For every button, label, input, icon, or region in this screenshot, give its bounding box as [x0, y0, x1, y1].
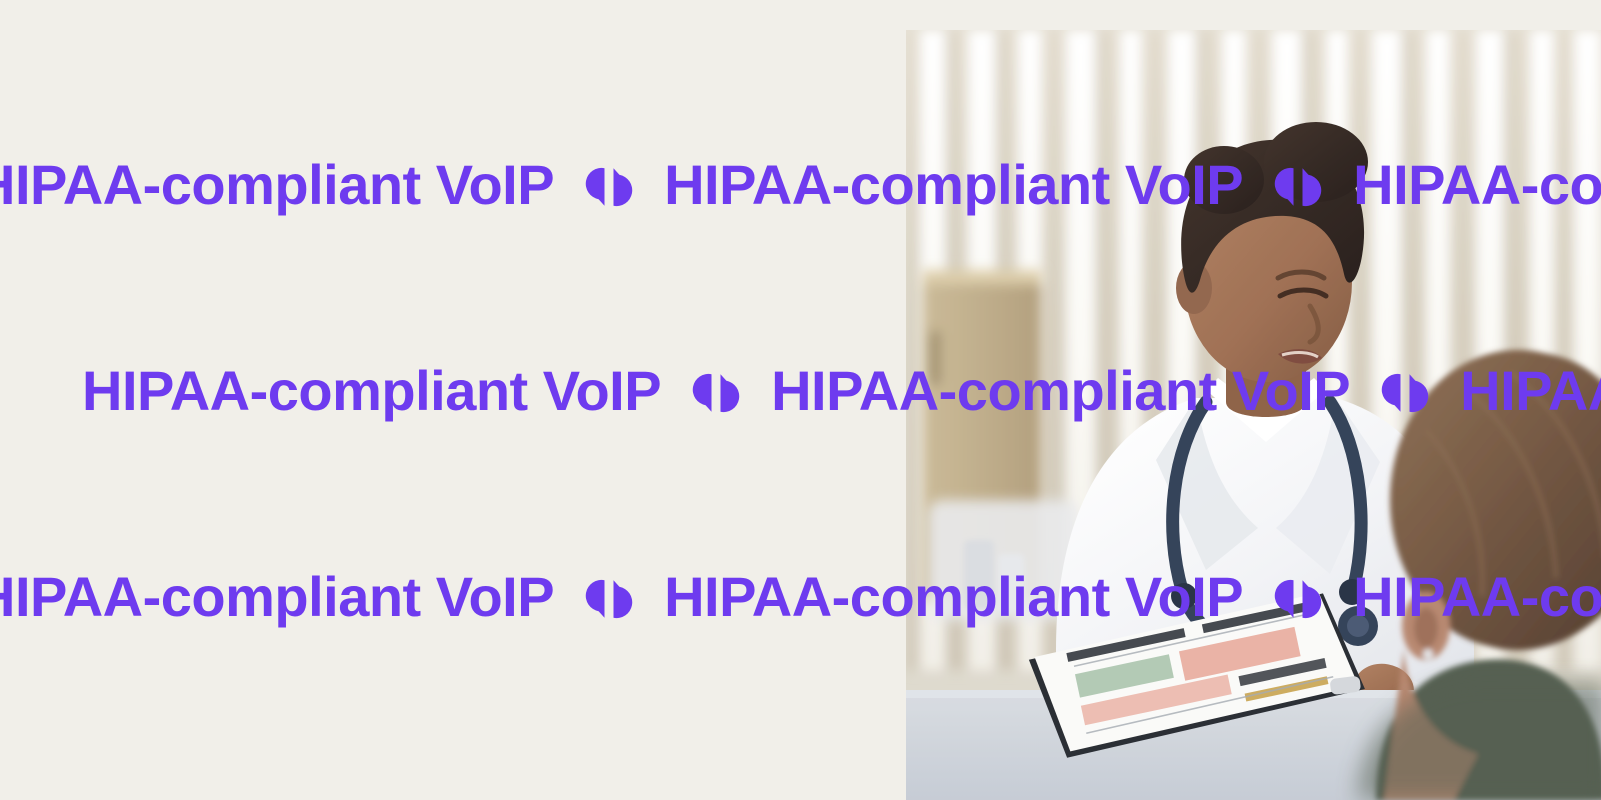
- marquee-item: HIPAA-compliant VoIP: [1460, 358, 1601, 423]
- marquee-label[interactable]: HIPAA-compliant VoIP: [0, 564, 554, 629]
- marquee-label[interactable]: HIPAA-compliant VoIP: [0, 152, 554, 217]
- marquee-item: HIPAA-compliant VoIP: [1353, 564, 1601, 629]
- dialpad-speech-bubbles-icon: [580, 578, 638, 620]
- marquee-hero-banner: HIPAA-compliant VoIP HIPAA-compliant VoI…: [0, 0, 1601, 800]
- dialpad-speech-bubbles-icon: [687, 372, 745, 414]
- marquee-label[interactable]: HIPAA-compliant VoIP: [664, 152, 1243, 217]
- marquee-label[interactable]: HIPAA-compliant VoIP: [664, 564, 1243, 629]
- dialpad-speech-bubbles-icon: [580, 166, 638, 208]
- marquee-label[interactable]: HIPAA-compliant VoIP: [1353, 564, 1601, 629]
- marquee-item: HIPAA-compliant VoIP: [0, 152, 554, 217]
- marquee-label[interactable]: HIPAA-compliant VoIP: [1353, 152, 1601, 217]
- marquee-label[interactable]: HIPAA-compliant VoIP: [82, 358, 661, 423]
- marquee-label[interactable]: HIPAA-compliant VoIP: [771, 358, 1350, 423]
- marquee-item: HIPAA-compliant VoIP: [664, 152, 1243, 217]
- marquee-item: HIPAA-compliant VoIP: [1353, 152, 1601, 217]
- marquee-item: HIPAA-compliant VoIP: [771, 358, 1350, 423]
- marquee-label[interactable]: HIPAA-compliant VoIP: [1460, 358, 1601, 423]
- marquee-item: HIPAA-compliant VoIP: [82, 358, 661, 423]
- marquee-item: HIPAA-compliant VoIP: [664, 564, 1243, 629]
- marquee-item: HIPAA-compliant VoIP: [0, 564, 554, 629]
